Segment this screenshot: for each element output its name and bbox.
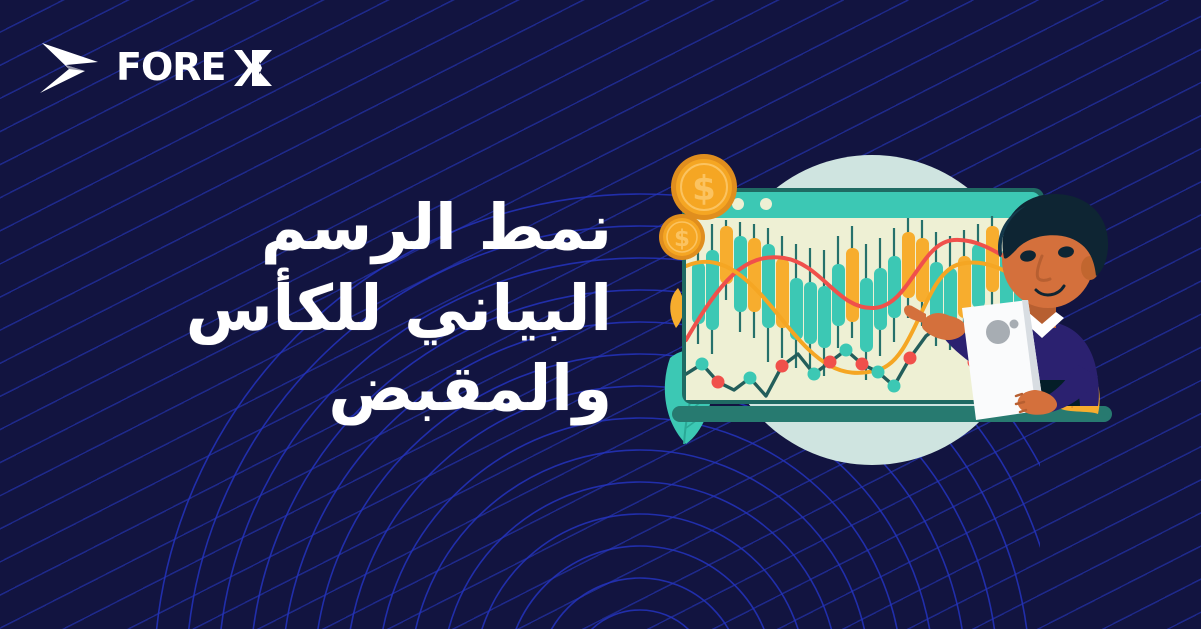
coin-small-symbol: $ [674,226,690,252]
forex-wordmark: FORE [116,46,294,90]
forex-banner: FORE نمط الرسم البياني للكأس والمقبض [0,0,1201,629]
coin-large-symbol: $ [692,169,716,209]
coin-large: $ [671,154,737,220]
coin-small: $ [659,214,705,260]
page-title: نمط الرسم البياني للكأس والمقبض [142,188,612,430]
window-dot-3 [760,198,772,210]
hero-illustration: $ $ [624,132,1164,492]
svg-text:FORE: FORE [116,48,225,88]
forex-arrow-mark-icon [36,40,102,96]
tablet-camera-dot [1010,320,1019,329]
brand-logo[interactable]: FORE [36,40,294,96]
tablet-camera-lens [986,320,1010,344]
